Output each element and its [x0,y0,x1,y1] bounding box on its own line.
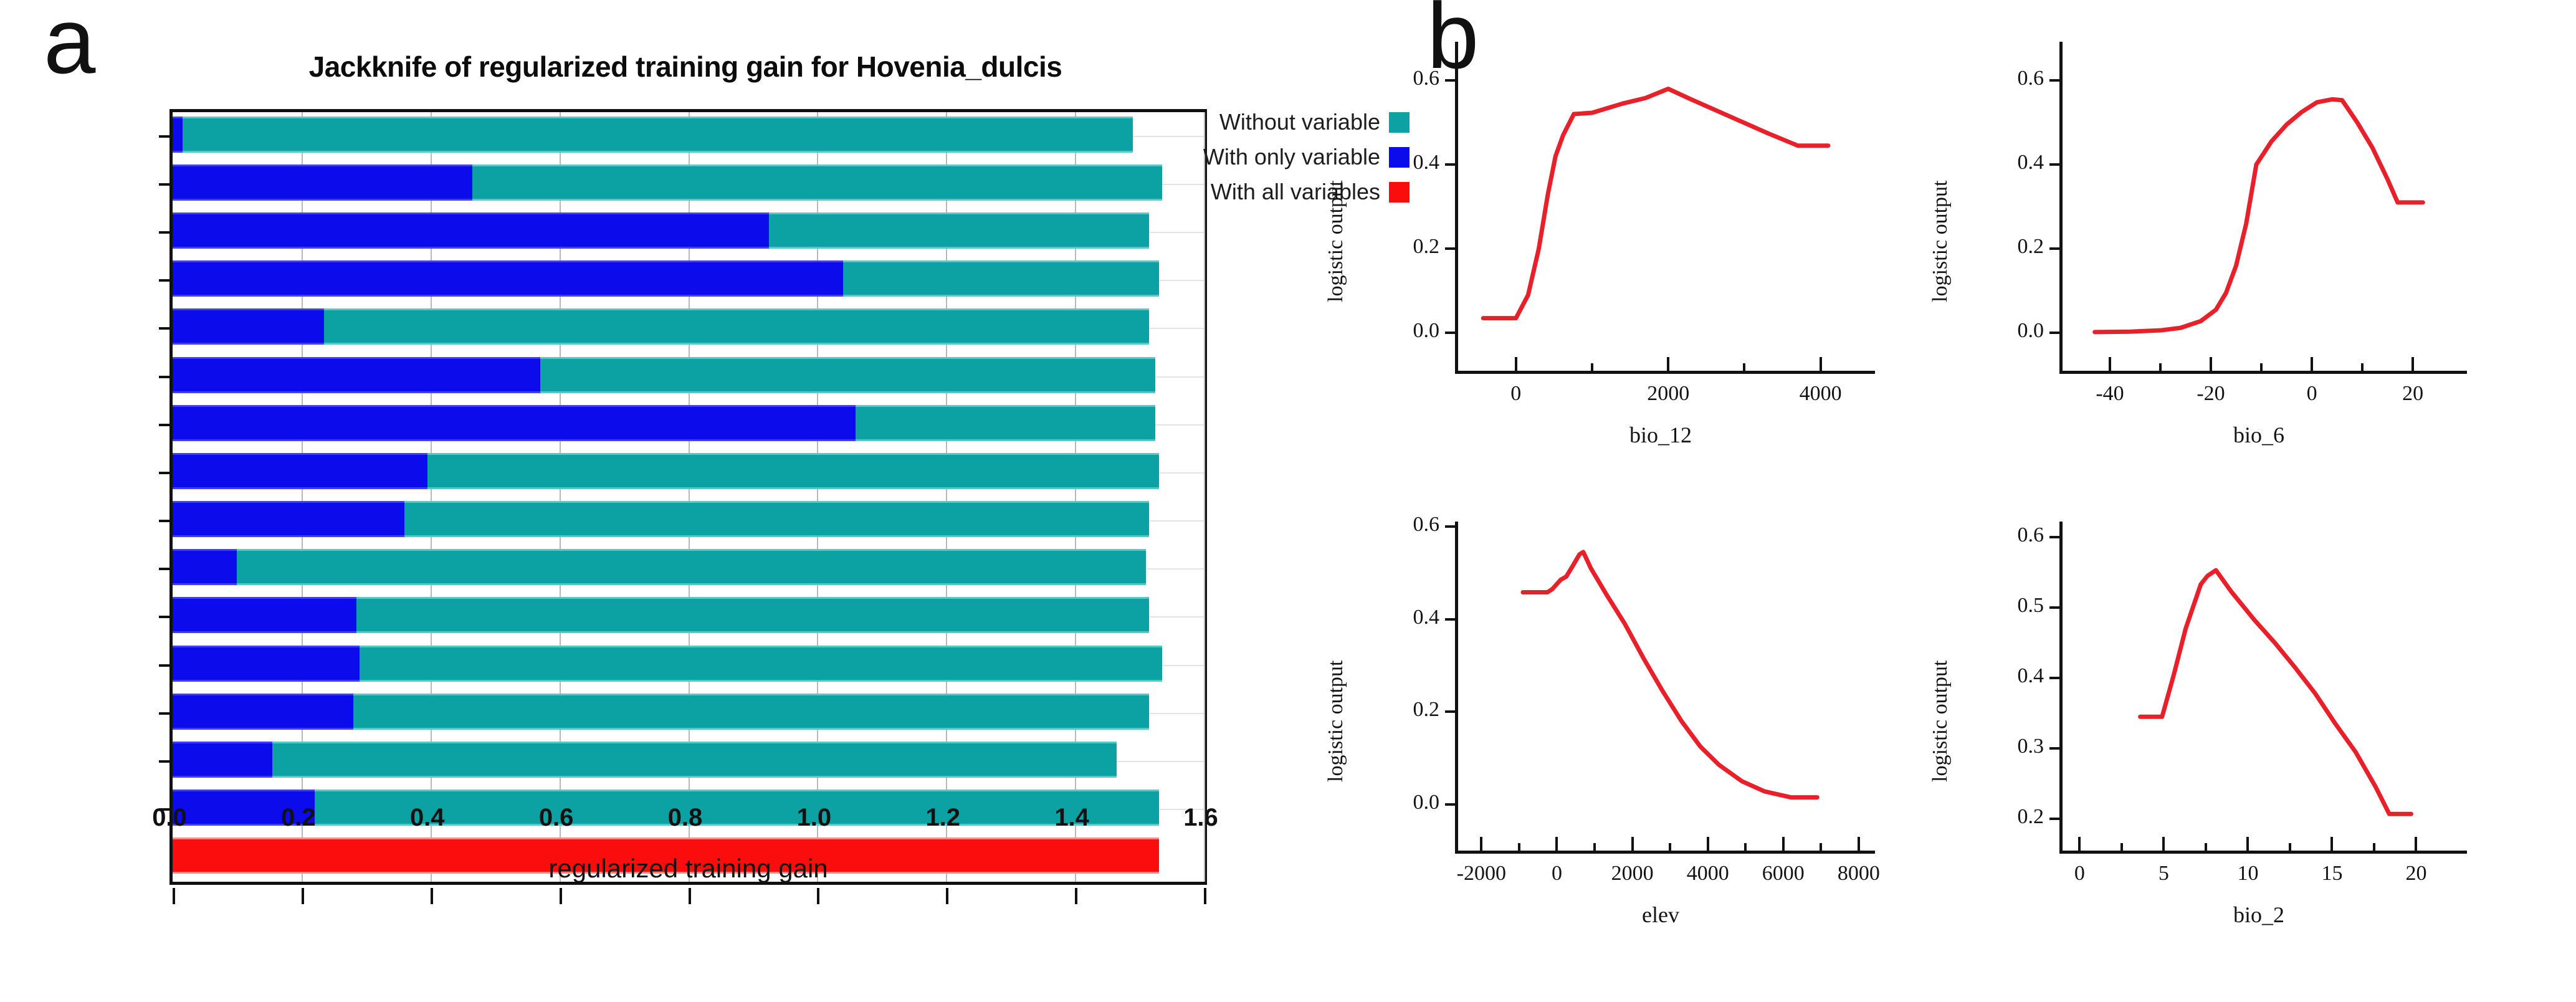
x-axis-tick [1204,888,1206,904]
response-curve-bio_12: 0.00.20.40.6020004000logistic outputbio_… [1455,47,1904,470]
y-axis-tick [1445,79,1455,82]
legend-swatch-icon [1389,112,1410,133]
legend-label: With all variables [1211,179,1380,205]
x-axis-tick [302,888,304,904]
y-axis-tick [159,327,173,330]
y-axis-label-0.0: 0.0 [1330,791,1439,814]
bar-with-only-variable-bio_6[interactable] [173,405,856,441]
response-curve-line-elev [1455,527,1885,869]
x-axis-label-0.0: 0.0 [120,804,219,832]
y-axis-title: logistic output [1929,181,1952,303]
response-curve-bio_2: 0.20.30.40.50.605101520logistic outputbi… [2059,527,2496,950]
y-axis-tick [159,520,173,522]
y-axis-label-0.4: 0.4 [1330,606,1439,629]
y-axis-label-0.4: 0.4 [1935,151,2044,174]
x-axis-label-1.0: 1.0 [764,804,864,832]
x-axis-tick [173,888,175,904]
x-axis-title: bio_2 [2147,902,2371,928]
legend-item-0[interactable]: Without variable [1223,105,1410,140]
bar-with-only-variable-bio_4[interactable] [173,357,540,393]
y-axis-tick [159,424,173,426]
y-axis-tick [2049,818,2059,820]
x-axis-tick [817,888,819,904]
x-axis-tick [1075,888,1077,904]
response-curve-elev: 0.00.20.40.6-200002000400060008000logist… [1455,527,1904,950]
x-axis-label-1.2: 1.2 [893,804,993,832]
x-axis-title: elev [1548,902,1773,928]
x-axis-title: bio_12 [1548,422,1773,448]
y-axis-tick [159,568,173,570]
y-axis-tick [159,760,173,763]
bar-without-variable-s_caco3[interactable] [173,549,1146,585]
response-curve-line-bio_6 [2059,47,2477,389]
bar-with-only-variable-bio_12[interactable] [173,212,769,249]
y-axis-tick [159,664,173,667]
jackknife-plot-area [169,109,1207,885]
y-axis-tick [1445,163,1455,166]
y-axis-tick [2049,606,2059,609]
x-axis-label-0.2: 0.2 [249,804,348,832]
bar-with-only-variable-bio_3[interactable] [173,308,324,345]
bar-with-only-variable-s_caco3[interactable] [173,549,237,585]
response-curve-line-bio_12 [1455,47,1885,389]
y-axis-title: logistic output [1324,661,1348,783]
x-axis-label-1.6: 1.6 [1151,804,1251,832]
bar-with-only-variable-bio_2[interactable] [173,260,843,297]
y-axis-tick [159,712,173,715]
bar-with-only-variable-elev[interactable] [173,501,404,537]
y-axis-label-0.0: 0.0 [1935,319,2044,343]
bar-with-only-variable-s_clay[interactable] [173,597,356,633]
y-axis-tick [159,376,173,378]
bar-without-variable-aspect[interactable] [173,117,1133,153]
y-axis-tick [2049,247,2059,250]
response-curve-line-bio_2 [2059,527,2477,869]
y-axis-label-0.6: 0.6 [1935,67,2044,90]
jackknife-plot-inner [173,112,1204,882]
legend-item-2[interactable]: With all variables [1223,174,1410,209]
y-axis-tick [1445,247,1455,250]
bar-with-only-variable-s_sand[interactable] [173,694,353,730]
y-axis-label-0.6: 0.6 [1935,523,2044,547]
response-curve-bio_6: 0.00.20.40.6-40-20020logistic outputbio_… [2059,47,2496,470]
y-axis-tick [2049,536,2059,538]
y-axis-tick [159,472,173,474]
y-axis-tick [159,616,173,618]
y-axis-title: logistic output [1324,181,1348,303]
y-axis-tick [159,135,173,138]
panel-a-jackknife-chart: Jackknife of regularized training gain f… [0,0,1408,1002]
x-axis-title: regularized training gain [169,854,1207,884]
y-axis-label-0.2: 0.2 [1935,805,2044,829]
bar-with-only-variable-slope[interactable] [173,742,272,778]
x-axis-tick [689,888,691,904]
bar-with-only-variable-bio_8[interactable] [173,453,427,489]
y-axis-tick [1445,525,1455,528]
x-axis-label-0.8: 0.8 [636,804,735,832]
y-axis-tick [2049,79,2059,82]
x-axis-title: bio_6 [2147,422,2371,448]
y-axis-tick [159,279,173,282]
y-axis-label-0.6: 0.6 [1330,67,1439,90]
y-axis-tick [2049,163,2059,166]
bar-with-only-variable-aspect[interactable] [173,117,183,153]
y-axis-tick [2049,332,2059,334]
y-axis-label-0.5: 0.5 [1935,594,2044,618]
x-axis-label-0.4: 0.4 [378,804,477,832]
y-axis-tick [2049,677,2059,679]
legend-label: Without variable [1219,109,1380,135]
x-axis-tick [431,888,433,904]
y-axis-tick [1445,332,1455,334]
legend-swatch-icon [1389,182,1410,203]
gridline-vertical [1204,112,1205,882]
y-axis-tick [1445,618,1455,621]
bar-without-variable-slope[interactable] [173,742,1117,778]
y-axis-tick [2049,747,2059,750]
chart-title: Jackknife of regularized training gain f… [156,50,1215,83]
y-axis-label-0.0: 0.0 [1330,319,1439,343]
y-axis-tick [1445,710,1455,713]
y-axis-tick [1445,803,1455,806]
y-axis-tick [159,183,173,186]
bar-with-only-variable-s_oc[interactable] [173,646,360,682]
bar-with-only-variable-bio_10[interactable] [173,165,472,201]
panel-b-response-curves: 0.00.20.40.6020004000logistic outputbio_… [1408,0,2576,1002]
x-axis-label-0.6: 0.6 [507,804,606,832]
x-axis-label-1.4: 1.4 [1022,804,1122,832]
y-axis-label-0.6: 0.6 [1330,513,1439,537]
y-axis-label-0.4: 0.4 [1330,151,1439,174]
x-axis-tick [946,888,948,904]
y-axis-tick [159,231,173,234]
x-axis-tick [560,888,562,904]
y-axis-title: logistic output [1929,661,1952,783]
